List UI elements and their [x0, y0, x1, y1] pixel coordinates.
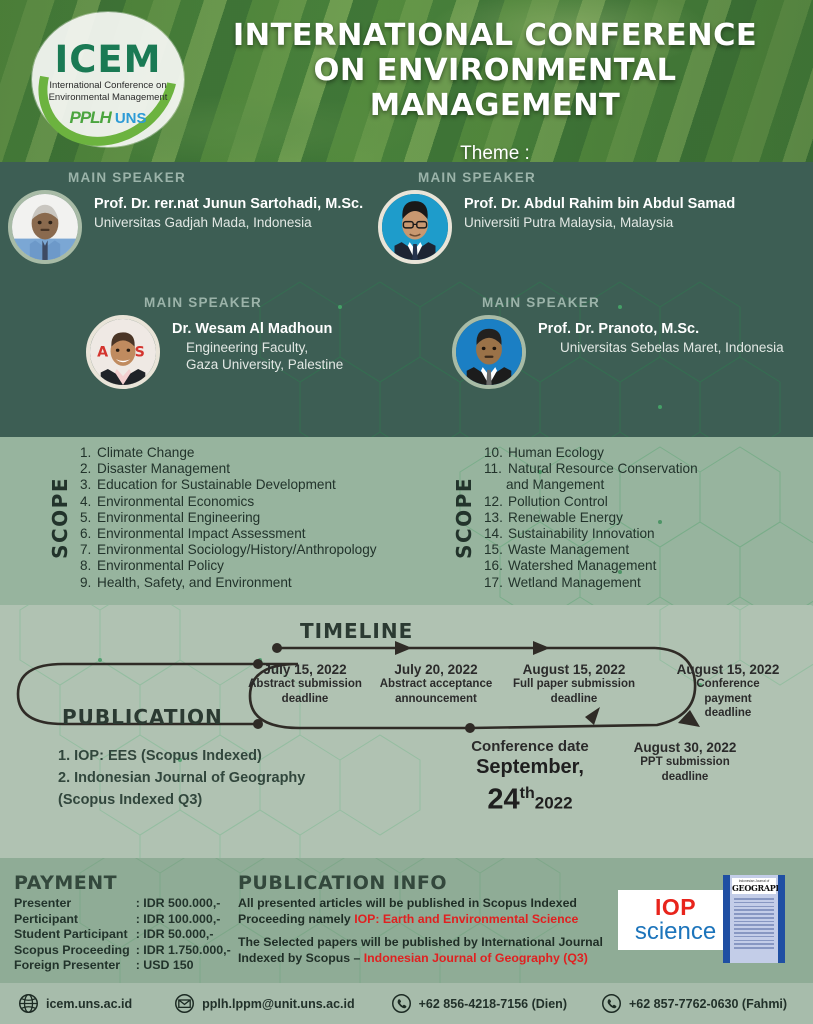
scope-item-text: Education for Sustainable Development	[97, 477, 336, 492]
publication-heading: PUBLICATION	[62, 705, 223, 729]
conference-date-year: 2022	[535, 794, 573, 813]
scope-item: 7.Environmental Sociology/History/Anthro…	[80, 542, 377, 558]
pubinfo-p2-line1: The Selected papers will be published by…	[238, 935, 603, 949]
publication-info-block: PUBLICATION INFO All presented articles …	[238, 872, 613, 966]
scope-item: 16.Watershed Management	[484, 558, 698, 574]
logo-subtitle-line2: Environmental Management	[40, 92, 176, 104]
scope-item: 9.Health, Safety, and Environment	[80, 575, 377, 591]
scope-item-number: 1.	[80, 445, 97, 461]
logo-org: PPLHUNS	[32, 108, 184, 128]
scope-list-right: 10.Human Ecology 11.Natural Resource Con…	[484, 445, 698, 591]
publication-info-paragraph-2: The Selected papers will be published by…	[238, 935, 613, 966]
scope-item-number: 7.	[80, 542, 97, 558]
email-icon	[174, 993, 195, 1014]
payment-row: Scopus Proceeding: IDR 1.750.000,-	[14, 943, 231, 959]
speaker-2-name: Prof. Dr. Abdul Rahim bin Abdul Samad	[464, 196, 735, 212]
scope-item-number: 3.	[80, 477, 97, 493]
logo-subtitle: International Conference on Environmenta…	[40, 80, 176, 104]
icem-logo: ICEM International Conference on Environ…	[32, 12, 184, 147]
scope-item-text: Environmental Impact Assessment	[97, 526, 306, 541]
journal-cover-title: GEOGRAPHY	[732, 883, 776, 893]
scope-item-text: Environmental Policy	[97, 558, 224, 573]
publication-info-paragraph-1: All presented articles will be published…	[238, 896, 613, 927]
scope-item-number: 15.	[484, 542, 508, 558]
scope-right-column: SCOPE 10.Human Ecology 11.Natural Resour…	[452, 445, 698, 591]
scope-item: 1.Climate Change	[80, 445, 377, 461]
payment-heading: PAYMENT	[14, 872, 231, 894]
scope-item: 10.Human Ecology	[484, 445, 698, 461]
scope-item-number: 17.	[484, 575, 508, 591]
contact-email-text: pplh.lppm@unit.uns.ac.id	[202, 997, 354, 1011]
publication-dot-bottom	[253, 719, 263, 729]
speaker-4-photo	[456, 319, 522, 385]
speaker-2-avatar	[378, 190, 452, 264]
scope-item-number: 14.	[484, 526, 508, 542]
speaker-2-label: MAIN SPEAKER	[418, 170, 808, 185]
scope-list-left: 1.Climate Change 2.Disaster Management 3…	[80, 445, 377, 591]
payment-table: Presenter: IDR 500.000,- Perticipant: ID…	[14, 896, 231, 974]
speaker-1-label: MAIN SPEAKER	[68, 170, 408, 185]
speaker-2-photo	[382, 194, 448, 260]
conference-date-day-suffix: th	[520, 785, 535, 802]
scope-section: SCOPE 1.Climate Change 2.Disaster Manage…	[0, 437, 813, 605]
scope-item: 8.Environmental Policy	[80, 558, 377, 574]
timeline-item-4-date: August 15, 2022	[648, 662, 808, 677]
logo-subtitle-line1: International Conference on	[40, 80, 176, 92]
speaker-1-avatar	[8, 190, 82, 264]
speaker-3-avatar: A S	[86, 315, 160, 389]
scope-item-text: Health, Safety, and Environment	[97, 575, 292, 590]
speaker-4-avatar	[452, 315, 526, 389]
payment-label: Student Participant	[14, 927, 130, 943]
conference-poster: ICEM International Conference on Environ…	[0, 0, 813, 1024]
poster-header: ICEM International Conference on Environ…	[0, 0, 813, 162]
contact-phone-1-text: +62 856-4218-7156 (Dien)	[419, 997, 567, 1011]
scope-item: 2.Disaster Management	[80, 461, 377, 477]
scope-item-number: 5.	[80, 510, 97, 526]
timeline-section: TIMELINE PUBLICATION July 15, 2022 Abstr…	[0, 605, 813, 858]
journal-cover-masthead: Indonesian Journal of GEOGRAPHY	[732, 878, 776, 894]
poster-title-line1: INTERNATIONAL CONFERENCE	[190, 18, 800, 53]
timeline-item-3-desc-line1: Full paper submission	[484, 678, 664, 692]
scope-item-number: 10.	[484, 445, 508, 461]
contact-website[interactable]: icem.uns.ac.id	[18, 993, 132, 1014]
timeline-item-4-desc-line3: deadline	[648, 707, 808, 721]
publication-item-1: 1. IOP: EES (Scopus Indexed)	[58, 745, 358, 767]
speaker-card-4: MAIN SPEAKER	[452, 295, 812, 389]
scope-item-text: Wetland Management	[508, 575, 641, 590]
payment-value: : IDR 100.000,-	[130, 912, 231, 928]
scope-item-number: 4.	[80, 494, 97, 510]
timeline-item-3-date: August 15, 2022	[484, 662, 664, 677]
timeline-item-3-desc-line2: deadline	[484, 693, 664, 707]
scope-item-text: Watershed Management	[508, 558, 656, 573]
scope-item-continuation: and Mangement	[484, 477, 698, 493]
pubinfo-p2-highlight: Indonesian Journal of Geography (Q3)	[364, 951, 588, 965]
payment-row: Perticipant: IDR 100.000,-	[14, 912, 231, 928]
speaker-4-affiliation: Universitas Sebelas Maret, Indonesia	[560, 339, 784, 356]
svg-text:S: S	[135, 344, 145, 360]
speaker-2-affiliation: Universiti Putra Malaysia, Malaysia	[464, 214, 735, 231]
scope-item: 13.Renewable Energy	[484, 510, 698, 526]
logo-acronym: ICEM	[32, 38, 184, 81]
contact-phone-1[interactable]: +62 856-4218-7156 (Dien)	[391, 993, 567, 1014]
timeline-item-4-desc-line2: payment	[648, 693, 808, 707]
timeline-arrowhead-2	[533, 641, 550, 655]
scope-item-number: 13.	[484, 510, 508, 526]
conference-date-label: Conference date	[445, 738, 615, 755]
payment-row: Presenter: IDR 500.000,-	[14, 896, 231, 912]
scope-item-text: Natural Resource Conservation	[508, 461, 698, 476]
scope-item-text: Pollution Control	[508, 494, 608, 509]
speaker-4-label: MAIN SPEAKER	[482, 295, 812, 310]
speaker-card-3: MAIN SPEAKER A S	[86, 295, 466, 389]
contact-footer: icem.uns.ac.id pplh.lppm@unit.uns.ac.id …	[0, 983, 813, 1024]
scope-item: 3.Education for Sustainable Development	[80, 477, 377, 493]
payment-label: Perticipant	[14, 912, 130, 928]
payment-value: : USD 150	[130, 958, 231, 974]
pubinfo-p2-line2: Indexed by Scopus –	[238, 951, 364, 965]
scope-item-text: Environmental Sociology/History/Anthropo…	[97, 542, 377, 557]
timeline-arrowhead-4	[585, 707, 600, 725]
timeline-item-4-desc-line1: Conference	[648, 678, 808, 692]
logo-uns-text: UNS	[115, 110, 147, 127]
publication-item-3: (Scopus Indexed Q3)	[58, 789, 358, 811]
scope-item-number: 6.	[80, 526, 97, 542]
contact-phone-2-text: +62 857-7762-0630 (Fahmi)	[629, 997, 787, 1011]
theme-label: Theme :	[190, 143, 800, 162]
scope-item-number: 9.	[80, 575, 97, 591]
speakers-section: MAIN SPEAKER	[0, 162, 813, 437]
iop-logo-bottom: science	[635, 920, 716, 944]
phone-icon	[601, 993, 622, 1014]
speaker-3-label: MAIN SPEAKER	[144, 295, 466, 310]
iop-science-logo: IOP science	[618, 890, 733, 950]
timeline-item-5-desc-line1: PPT submission	[600, 756, 770, 770]
contact-phone-2[interactable]: +62 857-7762-0630 (Fahmi)	[601, 993, 787, 1014]
timeline-heading: TIMELINE	[300, 619, 413, 643]
publication-item-2: 2. Indonesian Journal of Geography	[58, 767, 358, 789]
logo-pplh-text: PPLH	[69, 108, 110, 127]
speaker-1-name: Prof. Dr. rer.nat Junun Sartohadi, M.Sc.	[94, 196, 363, 212]
scope-item: 5.Environmental Engineering	[80, 510, 377, 526]
speaker-card-1: MAIN SPEAKER	[8, 170, 408, 264]
scope-item-number: 8.	[80, 558, 97, 574]
speaker-3-photo: A S	[90, 319, 156, 385]
speaker-3-name: Dr. Wesam Al Madhoun	[172, 321, 343, 337]
svg-text:A: A	[97, 344, 108, 360]
conference-date-day-row: 24th2022	[445, 779, 615, 819]
header-title-block: INTERNATIONAL CONFERENCE ON ENVIRONMENTA…	[190, 18, 800, 162]
conference-date-block: Conference date September, 24th2022	[445, 738, 615, 819]
scope-item-number: 11.	[484, 461, 508, 477]
journal-cover-image: Indonesian Journal of GEOGRAPHY	[723, 875, 785, 963]
conference-date-day: 24	[487, 784, 519, 816]
scope-item-text: Human Ecology	[508, 445, 604, 460]
scope-item-number: 12.	[484, 494, 508, 510]
scope-item: 14.Sustainability Innovation	[484, 526, 698, 542]
speaker-4-name: Prof. Dr. Pranoto, M.Sc.	[538, 321, 784, 337]
scope-label-left: SCOPE	[48, 477, 72, 559]
payment-label: Scopus Proceeding	[14, 943, 130, 959]
journal-cover-lines	[730, 896, 778, 953]
payment-label: Foreign Presenter	[14, 958, 130, 974]
payment-block: PAYMENT Presenter: IDR 500.000,- Pertici…	[14, 872, 231, 974]
timeline-start-dot	[272, 643, 282, 653]
payment-value: : IDR 1.750.000,-	[130, 943, 231, 959]
scope-item-text: and Mangement	[506, 477, 604, 492]
scope-item-text: Renewable Energy	[508, 510, 623, 525]
contact-email[interactable]: pplh.lppm@unit.uns.ac.id	[174, 993, 354, 1014]
speaker-1-photo	[12, 194, 78, 260]
scope-item-text: Disaster Management	[97, 461, 230, 476]
iop-logo-top: IOP	[655, 896, 696, 919]
scope-item-text: Climate Change	[97, 445, 194, 460]
scope-label-right: SCOPE	[452, 477, 476, 559]
payment-row: Foreign Presenter: USD 150	[14, 958, 231, 974]
scope-item: 12.Pollution Control	[484, 494, 698, 510]
speaker-3-affiliation-line2: Gaza University, Palestine	[186, 356, 343, 373]
timeline-item-5: August 30, 2022 PPT submission deadline	[600, 740, 770, 784]
scope-item-number: 16.	[484, 558, 508, 574]
scope-item-text: Environmental Economics	[97, 494, 254, 509]
payment-value: : IDR 500.000,-	[130, 896, 231, 912]
scope-item: 4.Environmental Economics	[80, 494, 377, 510]
scope-item: 11.Natural Resource Conservation	[484, 461, 698, 477]
timeline-arrowhead-1	[395, 641, 412, 655]
globe-icon	[18, 993, 39, 1014]
publication-info-heading: PUBLICATION INFO	[238, 872, 613, 894]
scope-item: 6.Environmental Impact Assessment	[80, 526, 377, 542]
payment-row: Student Participant: IDR 50.000,-	[14, 927, 231, 943]
payment-label: Presenter	[14, 896, 130, 912]
phone-icon	[391, 993, 412, 1014]
scope-item-number: 2.	[80, 461, 97, 477]
conference-date-month: September,	[445, 755, 615, 779]
scope-item: 17.Wetland Management	[484, 575, 698, 591]
conference-dot	[465, 723, 475, 733]
pubinfo-p1-line1: All presented articles will be published…	[238, 896, 577, 910]
pubinfo-p1-line2: Proceeding namely	[238, 912, 354, 926]
timeline-item-4: August 15, 2022 Conference payment deadl…	[648, 662, 808, 721]
payment-value: : IDR 50.000,-	[130, 927, 231, 943]
publication-list: 1. IOP: EES (Scopus Indexed) 2. Indonesi…	[58, 745, 358, 811]
scope-item-text: Environmental Engineering	[97, 510, 260, 525]
timeline-item-5-desc-line2: deadline	[600, 771, 770, 785]
scope-item-text: Sustainability Innovation	[508, 526, 655, 541]
timeline-item-5-date: August 30, 2022	[600, 740, 770, 755]
speaker-3-affiliation-line1: Engineering Faculty,	[186, 339, 343, 356]
timeline-item-3: August 15, 2022 Full paper submission de…	[484, 662, 664, 706]
speaker-card-2: MAIN SPEAKER	[378, 170, 808, 264]
scope-item: 15.Waste Management	[484, 542, 698, 558]
speaker-1-affiliation: Universitas Gadjah Mada, Indonesia	[94, 214, 363, 231]
scope-item-text: Waste Management	[508, 542, 629, 557]
pubinfo-p1-highlight: IOP: Earth and Environmental Science	[354, 912, 578, 926]
poster-title-line2: ON ENVIRONMENTAL MANAGEMENT	[190, 53, 800, 123]
scope-left-column: SCOPE 1.Climate Change 2.Disaster Manage…	[48, 445, 377, 591]
contact-website-text: icem.uns.ac.id	[46, 997, 132, 1011]
